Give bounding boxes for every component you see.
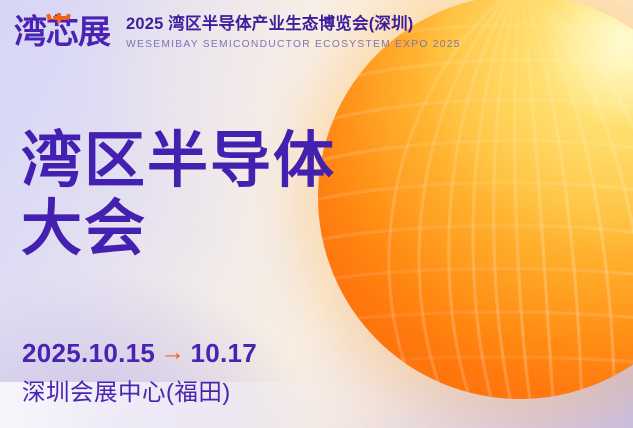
event-date: 2025.10.15 → 10.17 <box>22 338 257 369</box>
headline-line-1: 湾区半导体 <box>21 126 336 194</box>
arrow-right-icon: → <box>160 340 185 365</box>
event-meta: 2025.10.15 → 10.17 深圳会展中心(福田) <box>22 338 257 406</box>
orange-sphere-graphic <box>318 0 633 399</box>
headline-line-2: 大会 <box>21 194 336 262</box>
date-start: 2025.10.15 <box>22 338 155 369</box>
banner-header: 湾芯展 2025 湾区半导体产业生态博览会(深圳) WESEMIBAY SEMI… <box>14 13 461 50</box>
event-banner: 湾芯展 2025 湾区半导体产业生态博览会(深圳) WESEMIBAY SEMI… <box>0 0 633 428</box>
event-venue: 深圳会展中心(福田) <box>22 378 257 406</box>
logo-text: 湾芯展 <box>14 13 110 50</box>
expo-title-chinese: 2025 湾区半导体产业生态博览会(深圳) <box>126 14 461 35</box>
date-end: 10.17 <box>190 338 257 369</box>
sphere-grid-pattern <box>318 0 633 399</box>
wesemibay-logo: 湾芯展 <box>14 13 110 48</box>
expo-title-english: WESEMIBAY SEMICONDUCTOR ECOSYSTEM EXPO 2… <box>126 39 461 50</box>
expo-title-block: 2025 湾区半导体产业生态博览会(深圳) WESEMIBAY SEMICOND… <box>126 13 461 50</box>
page-title: 湾区半导体 大会 <box>21 126 336 263</box>
